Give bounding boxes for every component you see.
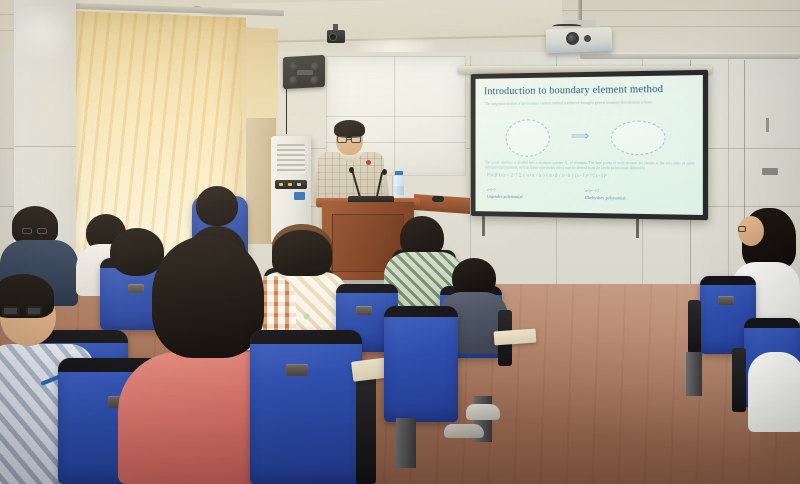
ac-led-indicator xyxy=(279,183,283,186)
speaker-cone-icon xyxy=(310,76,319,85)
slide-diagram: ⟹ xyxy=(491,116,685,159)
whiteboard-seam xyxy=(394,56,395,176)
seat-tag xyxy=(286,364,308,376)
speaker-cable xyxy=(286,88,287,134)
attendee-head xyxy=(152,236,264,358)
projector-pole xyxy=(578,0,582,22)
microphone-head-icon xyxy=(382,169,387,175)
screen-leg xyxy=(482,214,485,236)
seat-leg xyxy=(396,418,416,468)
bottle-label xyxy=(394,186,404,195)
pillar-highlight xyxy=(16,6,74,62)
slide-paragraph-2: The actual interface is divided into a m… xyxy=(485,161,695,173)
slide-paragraph-1: The integration method of the boundary e… xyxy=(485,100,695,107)
seat-tag xyxy=(356,306,372,315)
slide-right-condition: α=β=−0.5 xyxy=(585,189,599,193)
seat-armrest[interactable] xyxy=(732,348,746,412)
seat-trim xyxy=(700,276,756,285)
seat-armrest[interactable] xyxy=(356,376,376,484)
curtain-cord xyxy=(744,60,745,220)
curtain-clip xyxy=(762,168,778,175)
seat-writing-tablet[interactable] xyxy=(494,329,537,346)
speaker-label xyxy=(297,70,313,75)
seat-trim xyxy=(250,330,362,344)
slide-surface: Introduction to boundary element method … xyxy=(476,75,703,215)
attendee-hair xyxy=(272,230,332,276)
seat-leg xyxy=(686,352,702,396)
camera-lens-icon xyxy=(329,33,337,41)
slide-left-condition: α=β=0 xyxy=(487,188,496,192)
seat-trim xyxy=(336,284,398,293)
attendee-head xyxy=(196,186,238,226)
boundary-ellipse-discretized xyxy=(611,121,666,156)
boundary-ellipse-continuous xyxy=(506,119,550,157)
seat[interactable] xyxy=(250,330,362,484)
ac-led-indicator xyxy=(288,183,292,186)
slide-formula: P⁽α,β⁾(x) = 2⁻ⁿ Σ ( n+α / k ) ( n+β / n−… xyxy=(487,172,693,180)
attendee-shoe xyxy=(444,424,484,438)
ceiling-panel-line xyxy=(560,10,800,11)
air-conditioner-grille xyxy=(277,144,305,174)
seat[interactable] xyxy=(384,306,458,422)
pillar-seam xyxy=(14,146,76,147)
attendee-glasses-icon xyxy=(738,226,756,232)
podium-remote[interactable] xyxy=(432,196,444,202)
whiteboard-seam xyxy=(326,116,466,117)
lecture-hall-photo: Introduction to boundary element method … xyxy=(0,0,800,484)
speaker-cone-icon xyxy=(289,76,298,85)
wall-seam xyxy=(728,56,729,306)
attendee-hair xyxy=(12,206,58,244)
presenter-glasses-icon xyxy=(337,136,362,143)
slide-title: Introduction to boundary element method xyxy=(484,83,697,97)
projector-knob xyxy=(584,35,591,42)
slide-left-label: Legendre polynomial xyxy=(487,194,523,199)
curtain-weight xyxy=(766,118,769,132)
projection-screen[interactable]: Introduction to boundary element method … xyxy=(471,70,708,220)
curtain-rail xyxy=(580,54,800,59)
ceiling-projector xyxy=(546,27,613,53)
seat-tag xyxy=(718,296,734,305)
presenter-badge xyxy=(366,160,371,165)
attendee-shoe xyxy=(466,404,500,420)
microphone-head-icon xyxy=(349,167,354,173)
seat-armrest[interactable] xyxy=(688,300,701,354)
seat-trim xyxy=(384,306,458,317)
ceiling-panel-line xyxy=(600,26,800,27)
air-conditioner-badge xyxy=(294,192,305,200)
seat-tag xyxy=(128,284,144,293)
attendee-white-top-right xyxy=(748,352,800,432)
attendee-glasses-icon xyxy=(22,228,48,234)
attendee-head xyxy=(110,228,164,276)
arrow-icon: ⟹ xyxy=(563,130,596,142)
attendee-glasses-icon xyxy=(2,306,42,316)
seat-trim xyxy=(744,318,800,328)
ac-led-indicator xyxy=(297,183,301,186)
slide-right-label: Chebyshev polynomial xyxy=(585,195,625,201)
